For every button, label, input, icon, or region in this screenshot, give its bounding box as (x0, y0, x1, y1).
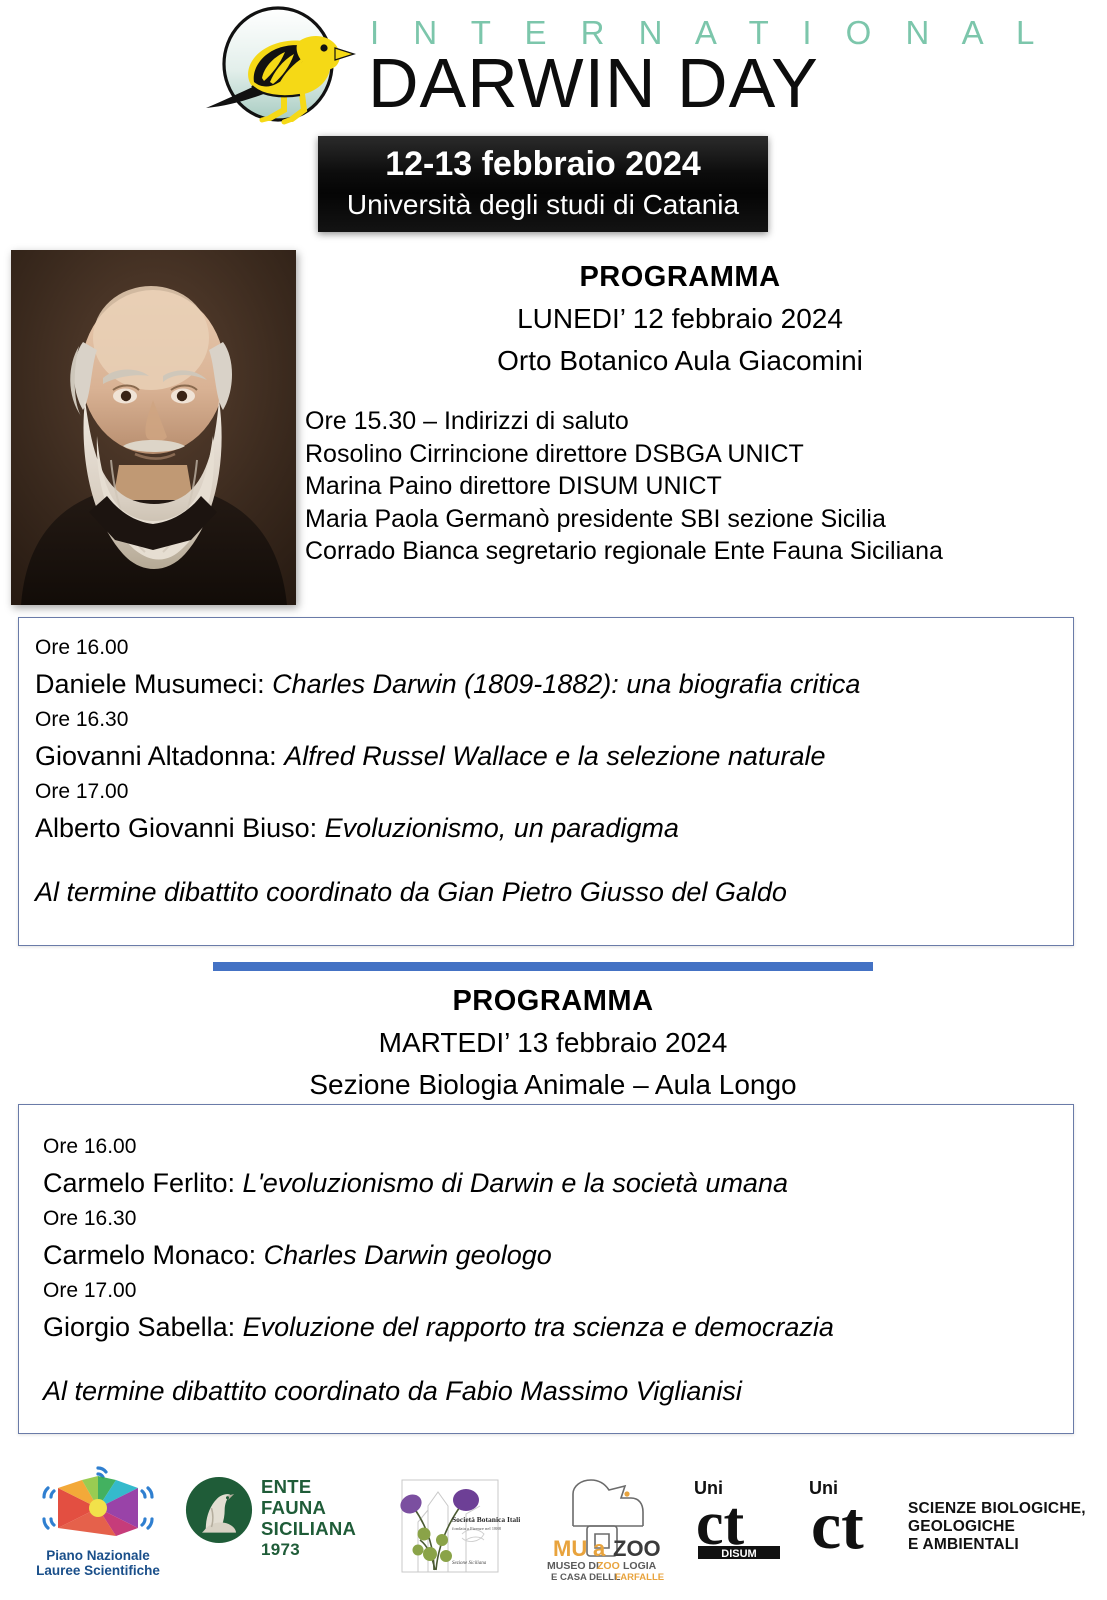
svg-text:ZOO: ZOO (597, 1560, 620, 1572)
pnls-caption: Piano Nazionale Lauree Scientifiche (28, 1548, 168, 1578)
ente-fauna-text: ENTE FAUNA SICILIANA 1973 (261, 1476, 370, 1560)
table-row: Carmelo Monaco: Charles Darwin geologo (43, 1235, 1073, 1275)
goldfinch-bird-logo-icon (192, 6, 364, 126)
day1-location: Orto Botanico Aula Giacomini (300, 340, 1060, 382)
unict-disum-logo: Uni ct DISUM (690, 1472, 795, 1562)
sponsor-logos-row: Piano Nazionale Lauree Scientifiche ENTE… (0, 1442, 1107, 1600)
section-divider (213, 962, 873, 971)
talk-time: Ore 16.00 (35, 632, 1073, 664)
talk-time: Ore 17.00 (43, 1275, 1073, 1307)
day2-location: Sezione Biologia Animale – Aula Longo (173, 1064, 933, 1106)
pnls-logo: Piano Nazionale Lauree Scientifiche (28, 1462, 168, 1582)
talk-title: L'evoluzionismo di Darwin e la società u… (243, 1168, 788, 1198)
header-logo: I N T E R N A T I O N A L DARWIN DAY (0, 0, 1107, 128)
talk-time: Ore 17.00 (35, 776, 1073, 808)
svg-text:ZOO: ZOO (613, 1536, 661, 1561)
ente-fauna-siciliana-logo: ENTE FAUNA SICILIANA 1973 (185, 1470, 370, 1566)
dsbga-line2: GEOLOGICHE (908, 1518, 1086, 1536)
greeting-line: Ore 15.30 – Indirizzi di saluto (305, 405, 1065, 438)
societa-botanica-italiana-logo: Società Botanica Italiana fondata a Fire… (380, 1464, 520, 1579)
efs-line2: SICILIANA (261, 1518, 370, 1539)
talk-title: Alfred Russel Wallace e la selezione nat… (284, 741, 825, 771)
vulture-circle-icon (185, 1476, 253, 1544)
talk-speaker: Alberto Giovanni Biuso: (35, 813, 325, 843)
table-row: Giorgio Sabella: Evoluzione del rapporto… (43, 1307, 1073, 1347)
svg-text:MUSEO DI: MUSEO DI (547, 1560, 599, 1572)
date-banner: 12-13 febbraio 2024 Università degli stu… (318, 136, 768, 232)
day1-greetings-list: Ore 15.30 – Indirizzi di saluto Rosolino… (305, 405, 1065, 568)
svg-text:Sezione Siciliana: Sezione Siciliana (452, 1561, 487, 1566)
day1-debate-note: Al termine dibattito coordinato da Gian … (35, 872, 1073, 912)
day1-programma-title: PROGRAMMA (300, 256, 1060, 298)
efs-year: 1973 (261, 1539, 370, 1560)
greeting-line: Maria Paola Germanò presidente SBI sezio… (305, 503, 1065, 536)
svg-text:ct: ct (811, 1487, 864, 1562)
svg-text:E CASA DELLE: E CASA DELLE (551, 1572, 620, 1582)
svg-text:DISUM: DISUM (721, 1548, 756, 1560)
talk-speaker: Giorgio Sabella: (43, 1312, 243, 1342)
table-row: Daniele Musumeci: Charles Darwin (1809-1… (35, 664, 1073, 704)
greeting-line: Corrado Bianca segretario regionale Ente… (305, 535, 1065, 568)
svg-text:LOGIA: LOGIA (623, 1560, 657, 1572)
talk-speaker: Daniele Musumeci: (35, 669, 272, 699)
unict-ct-mark: Uni ct DISUM (690, 1472, 795, 1562)
day1-date: LUNEDI’ 12 febbraio 2024 (300, 298, 1060, 340)
greeting-line: Rosolino Cirrincione direttore DSBGA UNI… (305, 438, 1065, 471)
talk-title: Charles Darwin (1809-1882): una biografi… (272, 669, 860, 699)
svg-text:a: a (593, 1536, 606, 1561)
table-row: Alberto Giovanni Biuso: Evoluzionismo, u… (35, 808, 1073, 848)
efs-line1: ENTE FAUNA (261, 1476, 370, 1518)
pnls-line2: Lauree Scientifiche (28, 1563, 168, 1578)
charles-darwin-portrait (11, 250, 296, 605)
pnls-line1: Piano Nazionale (28, 1548, 168, 1563)
table-row: Giovanni Altadonna: Alfred Russel Wallac… (35, 736, 1073, 776)
botanical-plant-icon: Società Botanica Italiana fondata a Fire… (380, 1464, 520, 1579)
day2-date: MARTEDI’ 13 febbraio 2024 (173, 1022, 933, 1064)
event-dates: 12-13 febbraio 2024 (318, 142, 768, 186)
talk-time: Ore 16.30 (35, 704, 1073, 736)
talk-title: Evoluzionismo, un paradigma (325, 813, 679, 843)
muzoo-logo: MU a ZOO MUSEO DI ZOO LOGIA E CASA DELLE… (535, 1464, 665, 1582)
svg-text:fondata a Firenze nel 1888: fondata a Firenze nel 1888 (452, 1526, 502, 1531)
spacer (35, 848, 1073, 872)
day1-program-box: Ore 16.00 Daniele Musumeci: Charles Darw… (18, 617, 1074, 946)
unict-ct-mark: Uni ct (805, 1472, 910, 1562)
svg-text:Società Botanica Italiana: Società Botanica Italiana (452, 1515, 520, 1524)
svg-text:MU: MU (553, 1536, 587, 1561)
svg-text:FARFALLE: FARFALLE (615, 1572, 664, 1582)
day2-heading: PROGRAMMA MARTEDI’ 13 febbraio 2024 Sezi… (173, 980, 933, 1106)
talk-speaker: Carmelo Ferlito: (43, 1168, 243, 1198)
greeting-line: Marina Paino direttore DISUM UNICT (305, 470, 1065, 503)
day2-program-box: Ore 16.00 Carmelo Ferlito: L'evoluzionis… (18, 1104, 1074, 1434)
day2-programma-title: PROGRAMMA (173, 980, 933, 1022)
event-venue: Università degli studi di Catania (318, 186, 768, 224)
talk-time: Ore 16.00 (43, 1131, 1073, 1163)
day2-debate-note: Al termine dibattito coordinato da Fabio… (43, 1371, 1073, 1411)
muzoo-butterfly-icon: MU a ZOO MUSEO DI ZOO LOGIA E CASA DELLE… (535, 1464, 665, 1582)
table-row: Carmelo Ferlito: L'evoluzionismo di Darw… (43, 1163, 1073, 1203)
darwin-day-wordmark: I N T E R N A T I O N A L DARWIN DAY (368, 4, 868, 128)
pnls-burst-icon (28, 1462, 168, 1552)
dsbga-line3: E AMBIENTALI (908, 1536, 1086, 1554)
dsbga-department-text: SCIENZE BIOLOGICHE, GEOLOGICHE E AMBIENT… (908, 1500, 1086, 1554)
talk-speaker: Giovanni Altadonna: (35, 741, 284, 771)
darwin-day-text: DARWIN DAY (368, 44, 819, 122)
spacer (43, 1347, 1073, 1371)
day1-heading: PROGRAMMA LUNEDI’ 12 febbraio 2024 Orto … (300, 256, 1060, 382)
talk-speaker: Carmelo Monaco: (43, 1240, 264, 1270)
talk-title: Charles Darwin geologo (264, 1240, 552, 1270)
unict-dsbga-logo: Uni ct (805, 1472, 910, 1562)
dsbga-line1: SCIENZE BIOLOGICHE, (908, 1500, 1086, 1518)
talk-title: Evoluzione del rapporto tra scienza e de… (243, 1312, 834, 1342)
talk-time: Ore 16.30 (43, 1203, 1073, 1235)
